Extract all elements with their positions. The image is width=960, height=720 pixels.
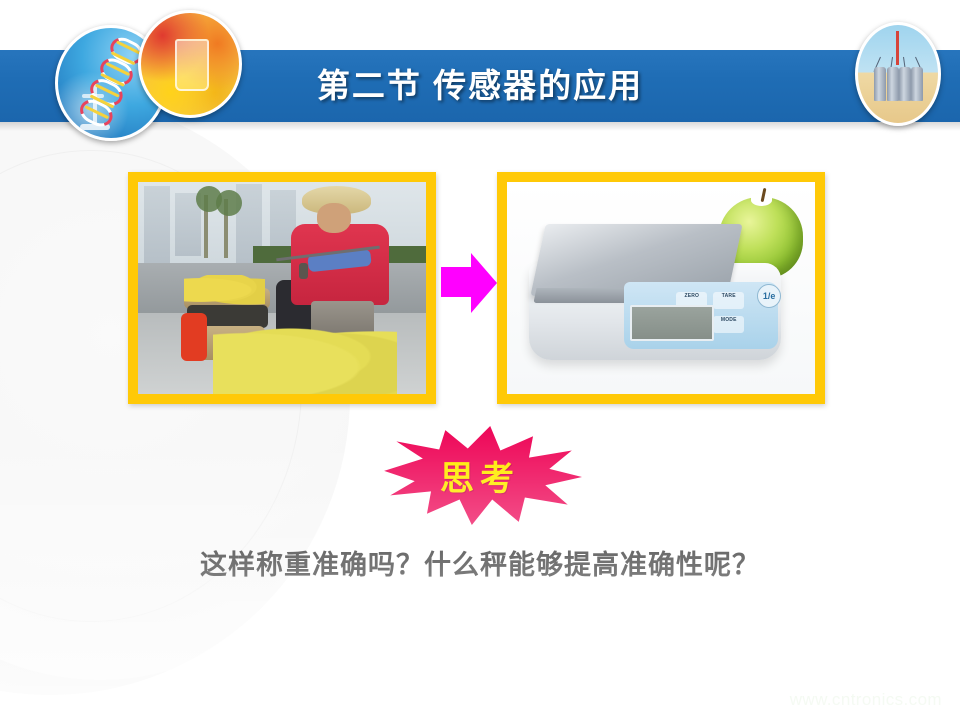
digital-scale-photo-frame: ZERO TARE PCS MODE 1/e xyxy=(497,172,825,404)
digital-scale-photo-image: ZERO TARE PCS MODE 1/e xyxy=(507,182,815,394)
scale-lcd-display xyxy=(630,305,714,341)
question-text: 这样称重准确吗？什么秤能够提高准确性呢？ xyxy=(0,543,960,582)
vendor-photo-frame xyxy=(128,172,436,404)
watermark-url: www.cntronics.com xyxy=(790,690,942,710)
grain-silo-badge-icon xyxy=(855,22,941,126)
think-starburst: 思考 xyxy=(378,424,582,526)
scale-mode-button: MODE xyxy=(713,316,744,333)
scale-brand-logo: 1/e xyxy=(757,284,781,308)
slide-canvas: 第二节 传感器的应用 xyxy=(0,0,960,720)
silo-crane-icon xyxy=(872,59,924,101)
dna-helix-icon xyxy=(75,33,147,132)
think-label: 思考 xyxy=(378,424,582,526)
vendor-photo-image xyxy=(138,182,426,394)
fruit-juice-badge-icon xyxy=(138,10,242,118)
right-arrow-icon xyxy=(441,253,499,313)
slide-header: 第二节 传感器的应用 xyxy=(0,0,960,148)
scale-tare-button: TARE xyxy=(713,292,744,309)
juice-glass-icon xyxy=(175,39,209,91)
